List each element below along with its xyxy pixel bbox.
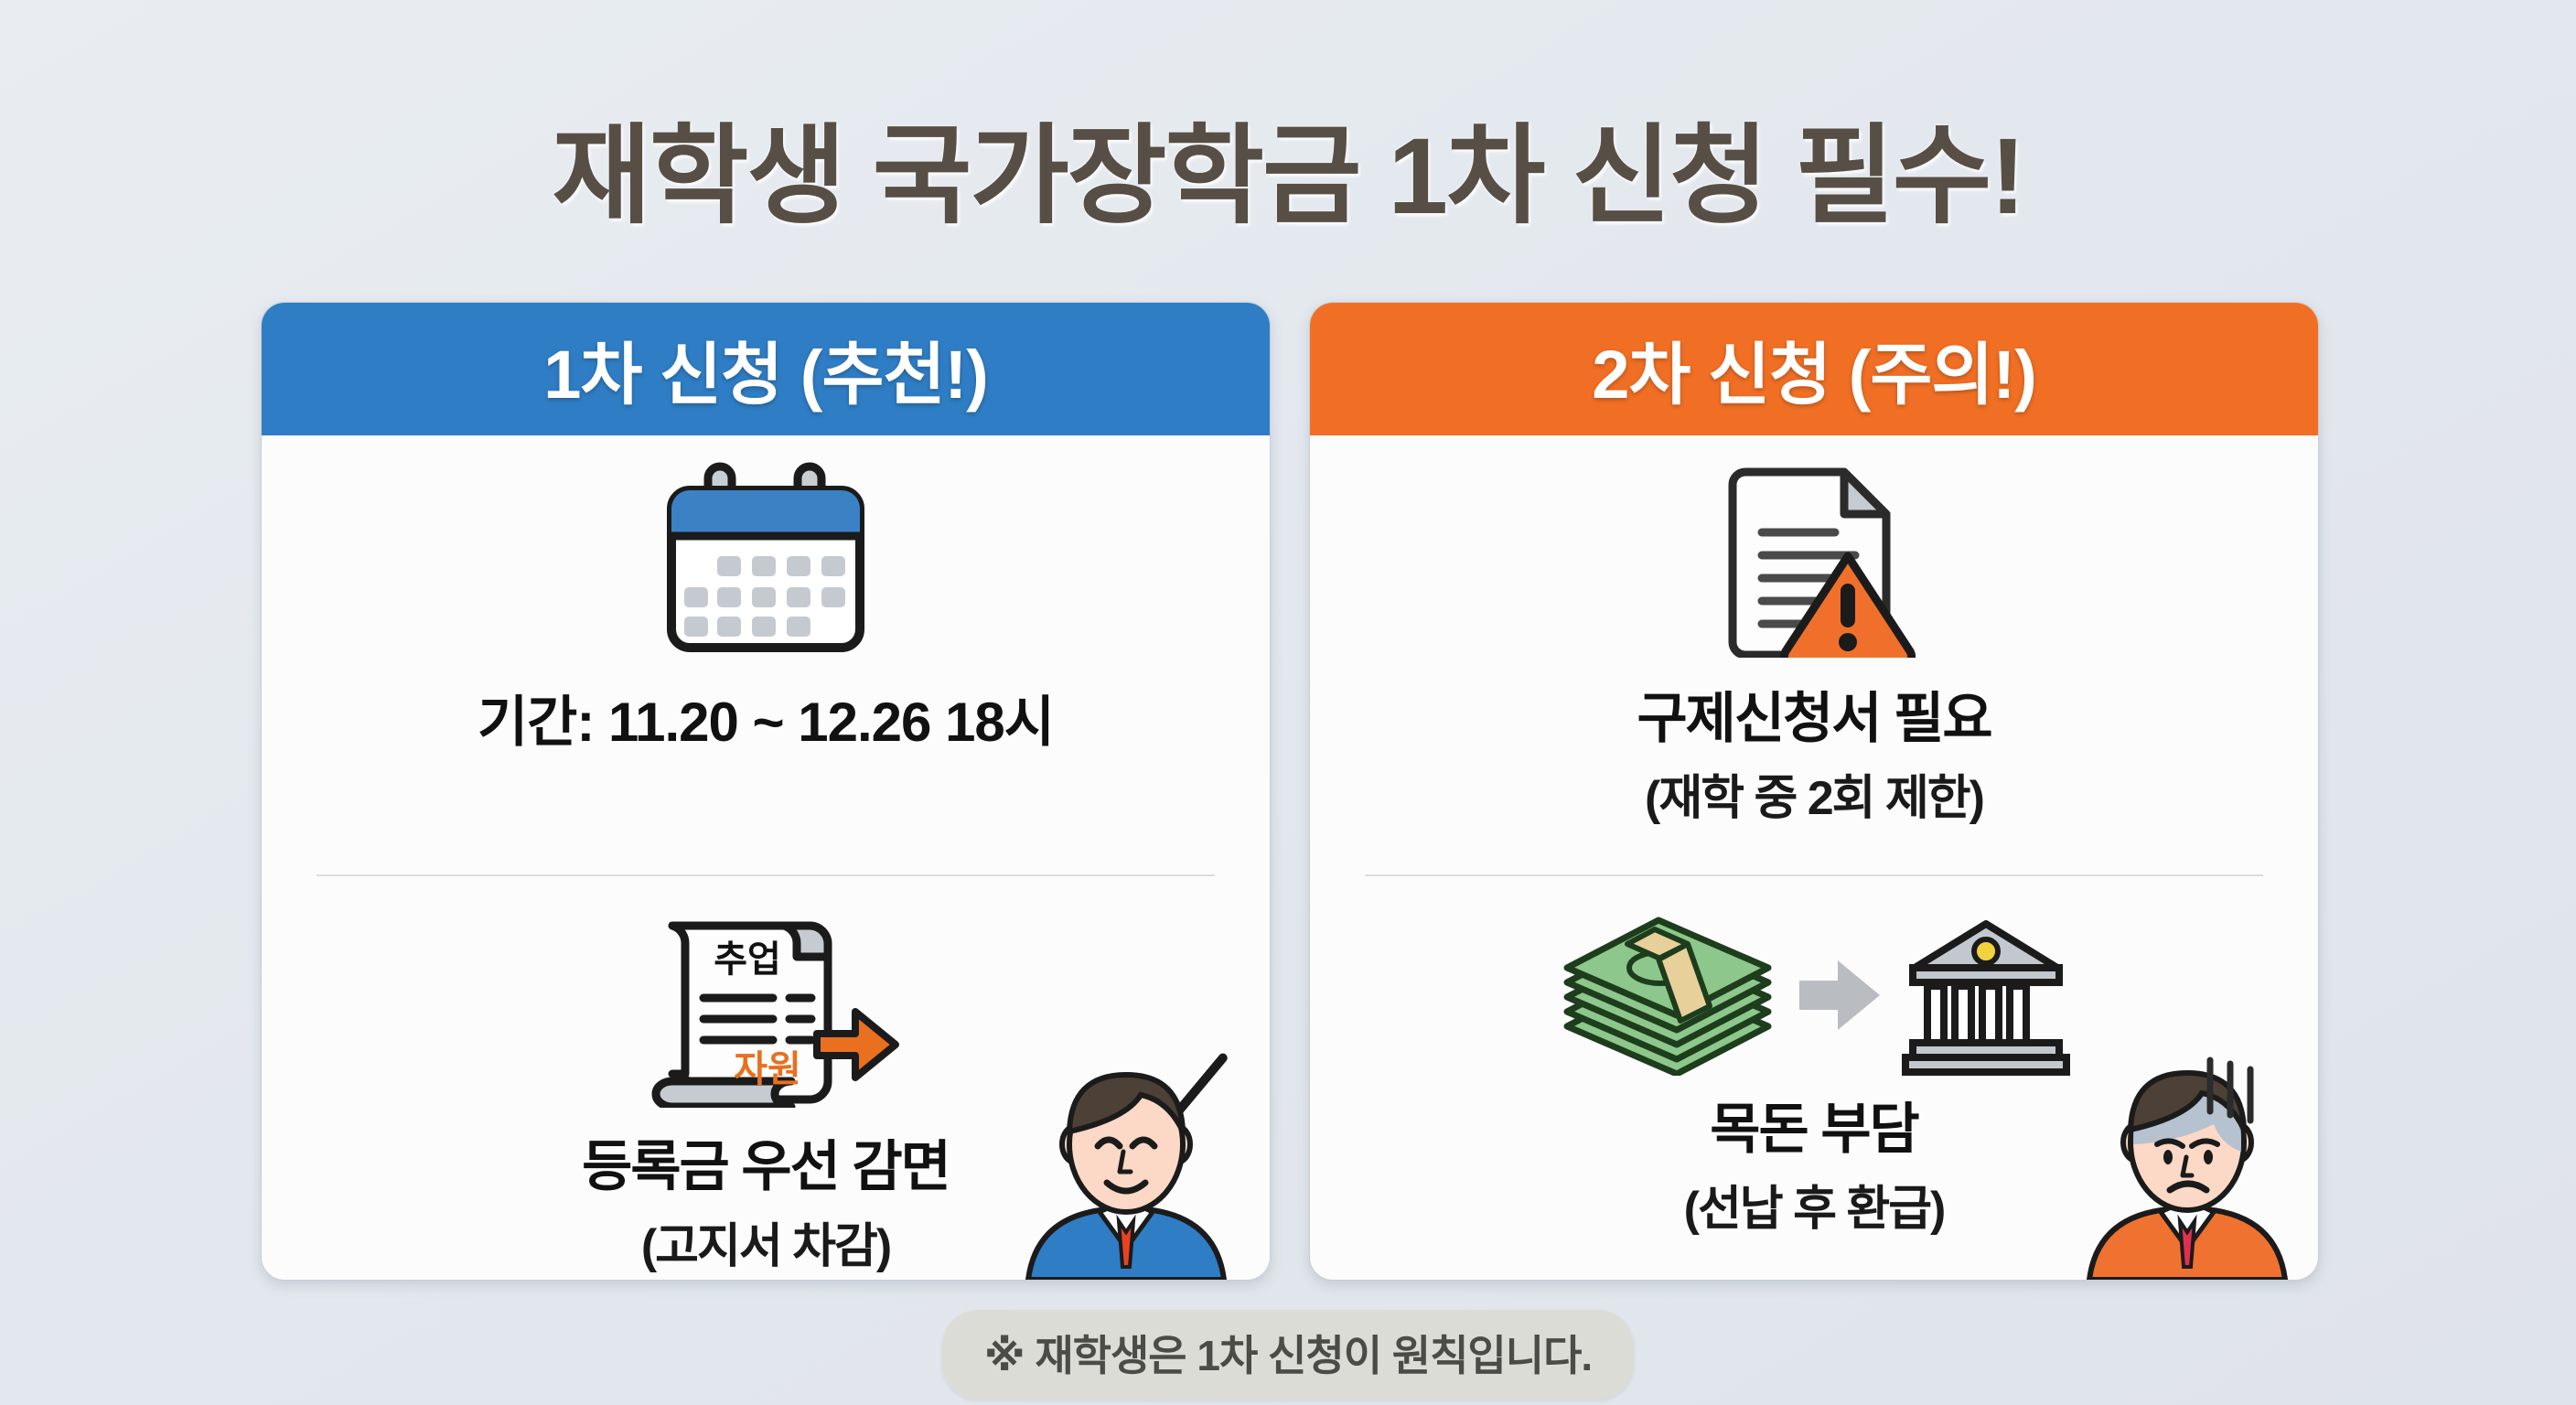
tuition-reduction-label: 등록금 우선 감면 bbox=[582, 1122, 950, 1202]
period-label: 기간: 11.20 ~ 12.26 18시 bbox=[478, 678, 1054, 757]
card-header-second: 2차 신청 (주의!) bbox=[1310, 303, 2318, 435]
scroll-icon-text-top: 추업 bbox=[714, 939, 781, 980]
card-divider-first bbox=[317, 874, 1215, 876]
money-to-bank-icon bbox=[1549, 911, 2079, 1076]
card-header-first: 1차 신청 (추천!) bbox=[262, 303, 1270, 435]
section-relief-application: 구제신청서 필요 (재학 중 2회 제한) bbox=[1310, 461, 2318, 828]
section-period: 기간: 11.20 ~ 12.26 18시 bbox=[262, 461, 1270, 757]
money-stack-icon bbox=[1567, 920, 1768, 1074]
comparison-cards: 1차 신청 (추천!) bbox=[261, 302, 2319, 1281]
bank-icon bbox=[1905, 924, 2066, 1072]
card-body-first: 기간: 11.20 ~ 12.26 18시 추업 bbox=[262, 435, 1270, 1280]
card-divider-second bbox=[1365, 874, 2263, 876]
calendar-icon bbox=[660, 461, 871, 658]
footer-note: ※ 재학생은 1차 신청이 원칙입니다. bbox=[942, 1310, 1634, 1400]
lump-sum-sublabel: (선납 후 환급) bbox=[1684, 1170, 1945, 1239]
lump-sum-label: 목돈 부담 bbox=[1710, 1085, 1917, 1164]
tuition-reduction-sublabel: (고지서 차감) bbox=[641, 1207, 890, 1276]
page-title: 재학생 국가장학금 1차 신청 필수! bbox=[0, 88, 2576, 244]
document-warning-icon bbox=[1709, 461, 1919, 658]
scroll-icon-text-bottom: 자원 bbox=[734, 1049, 801, 1089]
sad-student-icon bbox=[2073, 1051, 2302, 1280]
relief-application-sublabel: (재학 중 2회 제한) bbox=[1645, 759, 1983, 828]
card-first-application[interactable]: 1차 신청 (추천!) bbox=[261, 302, 1271, 1281]
happy-student-icon bbox=[1012, 1060, 1240, 1280]
scroll-arrow-icon: 추업 자원 bbox=[628, 911, 903, 1108]
card-body-second: 구제신청서 필요 (재학 중 2회 제한) bbox=[1310, 435, 2318, 1280]
relief-application-label: 구제신청서 필요 bbox=[1637, 674, 1991, 754]
card-second-application[interactable]: 2차 신청 (주의!) bbox=[1309, 302, 2319, 1281]
